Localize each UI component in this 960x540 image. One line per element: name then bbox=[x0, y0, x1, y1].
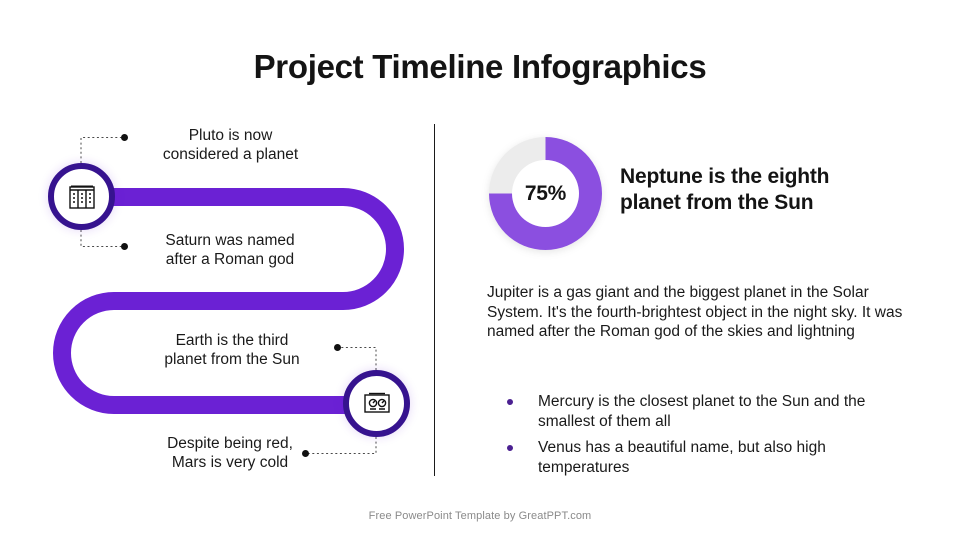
timeline-label-3: Earth is the third planet from the Sun bbox=[148, 331, 316, 369]
connector-line-2 bbox=[81, 230, 121, 247]
connector-dot-1 bbox=[121, 134, 128, 141]
building-icon bbox=[67, 183, 97, 211]
list-item: Mercury is the closest planet to the Sun… bbox=[500, 392, 912, 431]
bullet-dot-icon bbox=[507, 399, 513, 405]
timeline-label-1: Pluto is now considered a planet bbox=[148, 126, 313, 164]
footer-credit: Free PowerPoint Template by GreatPPT.com bbox=[0, 510, 960, 522]
timeline-node-end[interactable] bbox=[343, 370, 410, 437]
connector-dot-4 bbox=[302, 450, 309, 457]
connector-line-1 bbox=[81, 138, 121, 164]
connector-dot-3 bbox=[334, 344, 341, 351]
connector-line-3 bbox=[338, 348, 376, 371]
connector-line-4 bbox=[306, 437, 376, 454]
donut-chart: 75% bbox=[489, 137, 602, 250]
timeline-label-4: Despite being red, Mars is very cold bbox=[146, 434, 314, 472]
donut-center: 75% bbox=[512, 160, 579, 227]
timeline-node-start[interactable] bbox=[48, 163, 115, 230]
connector-dot-2 bbox=[121, 243, 128, 250]
slide-canvas: Project Timeline Infographics bbox=[0, 0, 960, 540]
dashboard-gauge-icon bbox=[362, 391, 392, 417]
right-paragraph: Jupiter is a gas giant and the biggest p… bbox=[487, 283, 905, 342]
bullet-list: Mercury is the closest planet to the Sun… bbox=[500, 392, 912, 484]
bullet-dot-icon bbox=[507, 445, 513, 451]
list-item-text: Venus has a beautiful name, but also hig… bbox=[538, 439, 826, 476]
timeline-route bbox=[62, 197, 395, 405]
right-heading: Neptune is the eighth planet from the Su… bbox=[620, 164, 920, 216]
donut-percent-value: 75% bbox=[525, 182, 566, 206]
list-item: Venus has a beautiful name, but also hig… bbox=[500, 438, 912, 477]
list-item-text: Mercury is the closest planet to the Sun… bbox=[538, 393, 865, 430]
timeline-label-2: Saturn was named after a Roman god bbox=[146, 231, 314, 269]
